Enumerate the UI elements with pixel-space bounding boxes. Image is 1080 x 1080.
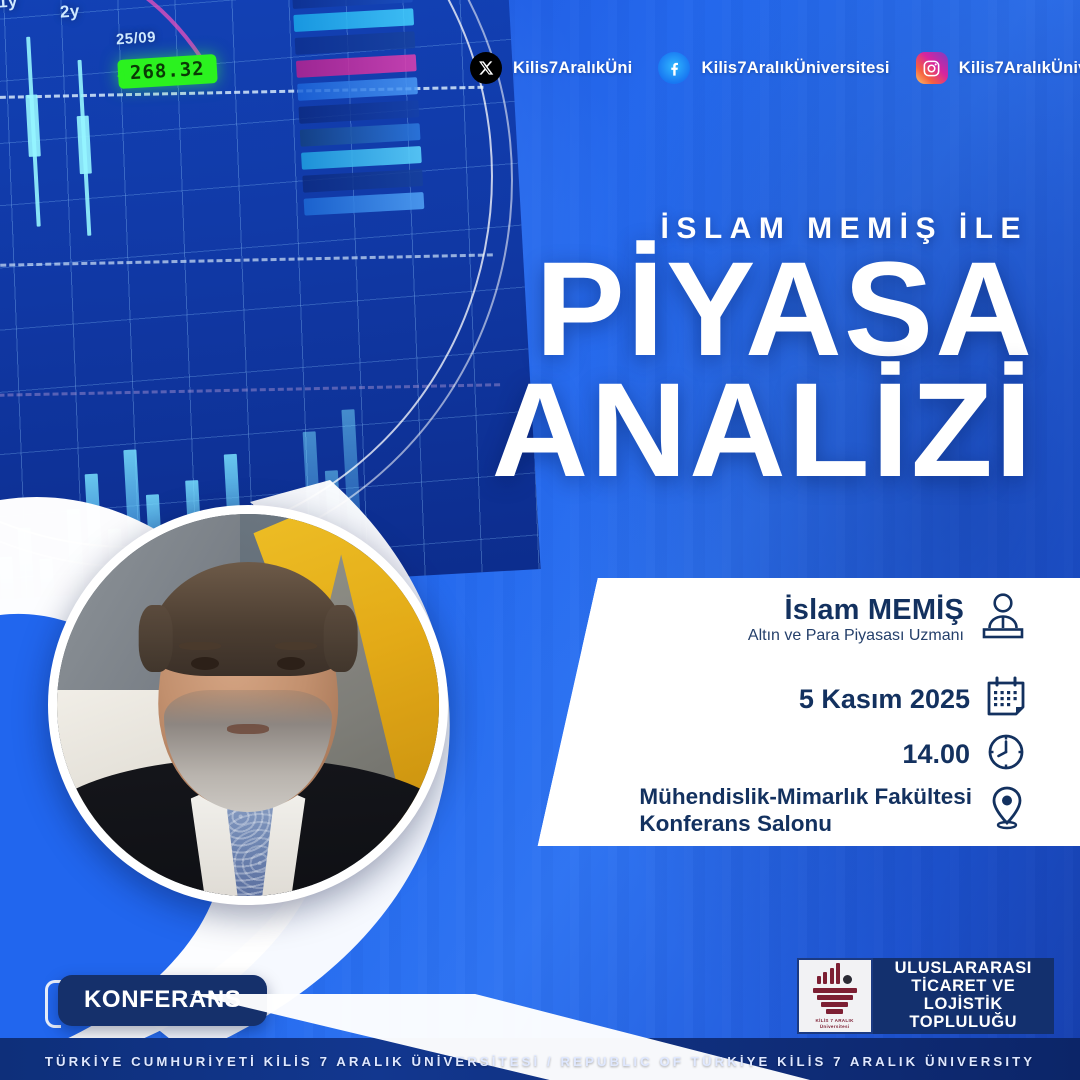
speaker-row: İslam MEMİŞ Altın ve Para Piyasası Uzman… [748, 592, 1026, 647]
venue-line-2: Konferans Salonu [639, 811, 972, 838]
headline-line-2: ANALİZİ [492, 373, 1034, 488]
chart-range-label-1y: 1y [0, 0, 19, 13]
ticker-rows [292, 0, 425, 222]
social-item-facebook[interactable]: Kilis7AralıkÜniversitesi [658, 52, 889, 84]
social-item-x[interactable]: Kilis7AralıkÜni [470, 52, 632, 84]
price-badge: 268.32 [117, 54, 217, 89]
venue-row: Mühendislik-Mimarlık Fakültesi Konferans… [639, 784, 1026, 837]
club-name-line-2: TİCARET VE [895, 978, 1032, 996]
calendar-icon [986, 676, 1026, 723]
social-handle-x: Kilis7AralıkÜni [513, 59, 632, 78]
poster-canvas: 1y 2y 25/09 268.32 [0, 0, 1080, 1080]
facebook-icon [658, 52, 690, 84]
headline-block: İSLAM MEMİŞ İLE PİYASA ANALİZİ [492, 212, 1034, 488]
time-row: 14.00 [902, 732, 1026, 777]
x-twitter-icon [470, 52, 502, 84]
university-logo-mark: KİLİS 7 ARALIK Üniversitesi [797, 958, 873, 1034]
chart-range-label-2y: 2y [59, 1, 80, 22]
speaker-portrait [48, 505, 448, 905]
event-date: 5 Kasım 2025 [799, 684, 970, 715]
social-media-bar: Kilis7AralıkÜni Kilis7AralıkÜniversitesi… [470, 48, 1070, 88]
club-name: ULUSLARARASI TİCARET VE LOJİSTİK TOPLULU… [873, 958, 1054, 1034]
club-name-line-1: ULUSLARARASI [895, 960, 1032, 978]
social-handle-facebook: Kilis7AralıkÜniversitesi [701, 59, 889, 78]
venue-line-1: Mühendislik-Mimarlık Fakültesi [639, 784, 972, 811]
event-time: 14.00 [902, 739, 970, 770]
social-handle-instagram: Kilis7AralıkÜniv [959, 59, 1080, 78]
club-name-line-3: LOJİSTİK [895, 996, 1032, 1014]
event-info-card: İslam MEMİŞ Altın ve Para Piyasası Uzman… [518, 578, 1080, 846]
map-pin-icon [988, 785, 1026, 836]
university-mark-line-2: Üniversitesi [816, 1024, 854, 1030]
speaker-podium-icon [980, 592, 1026, 647]
date-row: 5 Kasım 2025 [799, 676, 1026, 723]
footer-text: TÜRKİYE CUMHURİYETİ KİLİS 7 ARALIK ÜNİVE… [0, 1054, 1080, 1069]
headline-line-1: PİYASA [492, 252, 1034, 367]
instagram-icon [916, 52, 948, 84]
social-item-instagram[interactable]: Kilis7AralıkÜniv [916, 52, 1080, 84]
background-right-shadow [551, 0, 1080, 1080]
chart-date-label: 25/09 [115, 29, 156, 49]
speaker-name: İslam MEMİŞ [748, 595, 964, 625]
club-name-line-4: TOPLULUĞU [895, 1014, 1032, 1032]
clock-icon [986, 732, 1026, 777]
club-logo-lockup: KİLİS 7 ARALIK Üniversitesi ULUSLARARASI… [797, 958, 1054, 1034]
speaker-title: Altın ve Para Piyasası Uzmanı [748, 627, 964, 645]
